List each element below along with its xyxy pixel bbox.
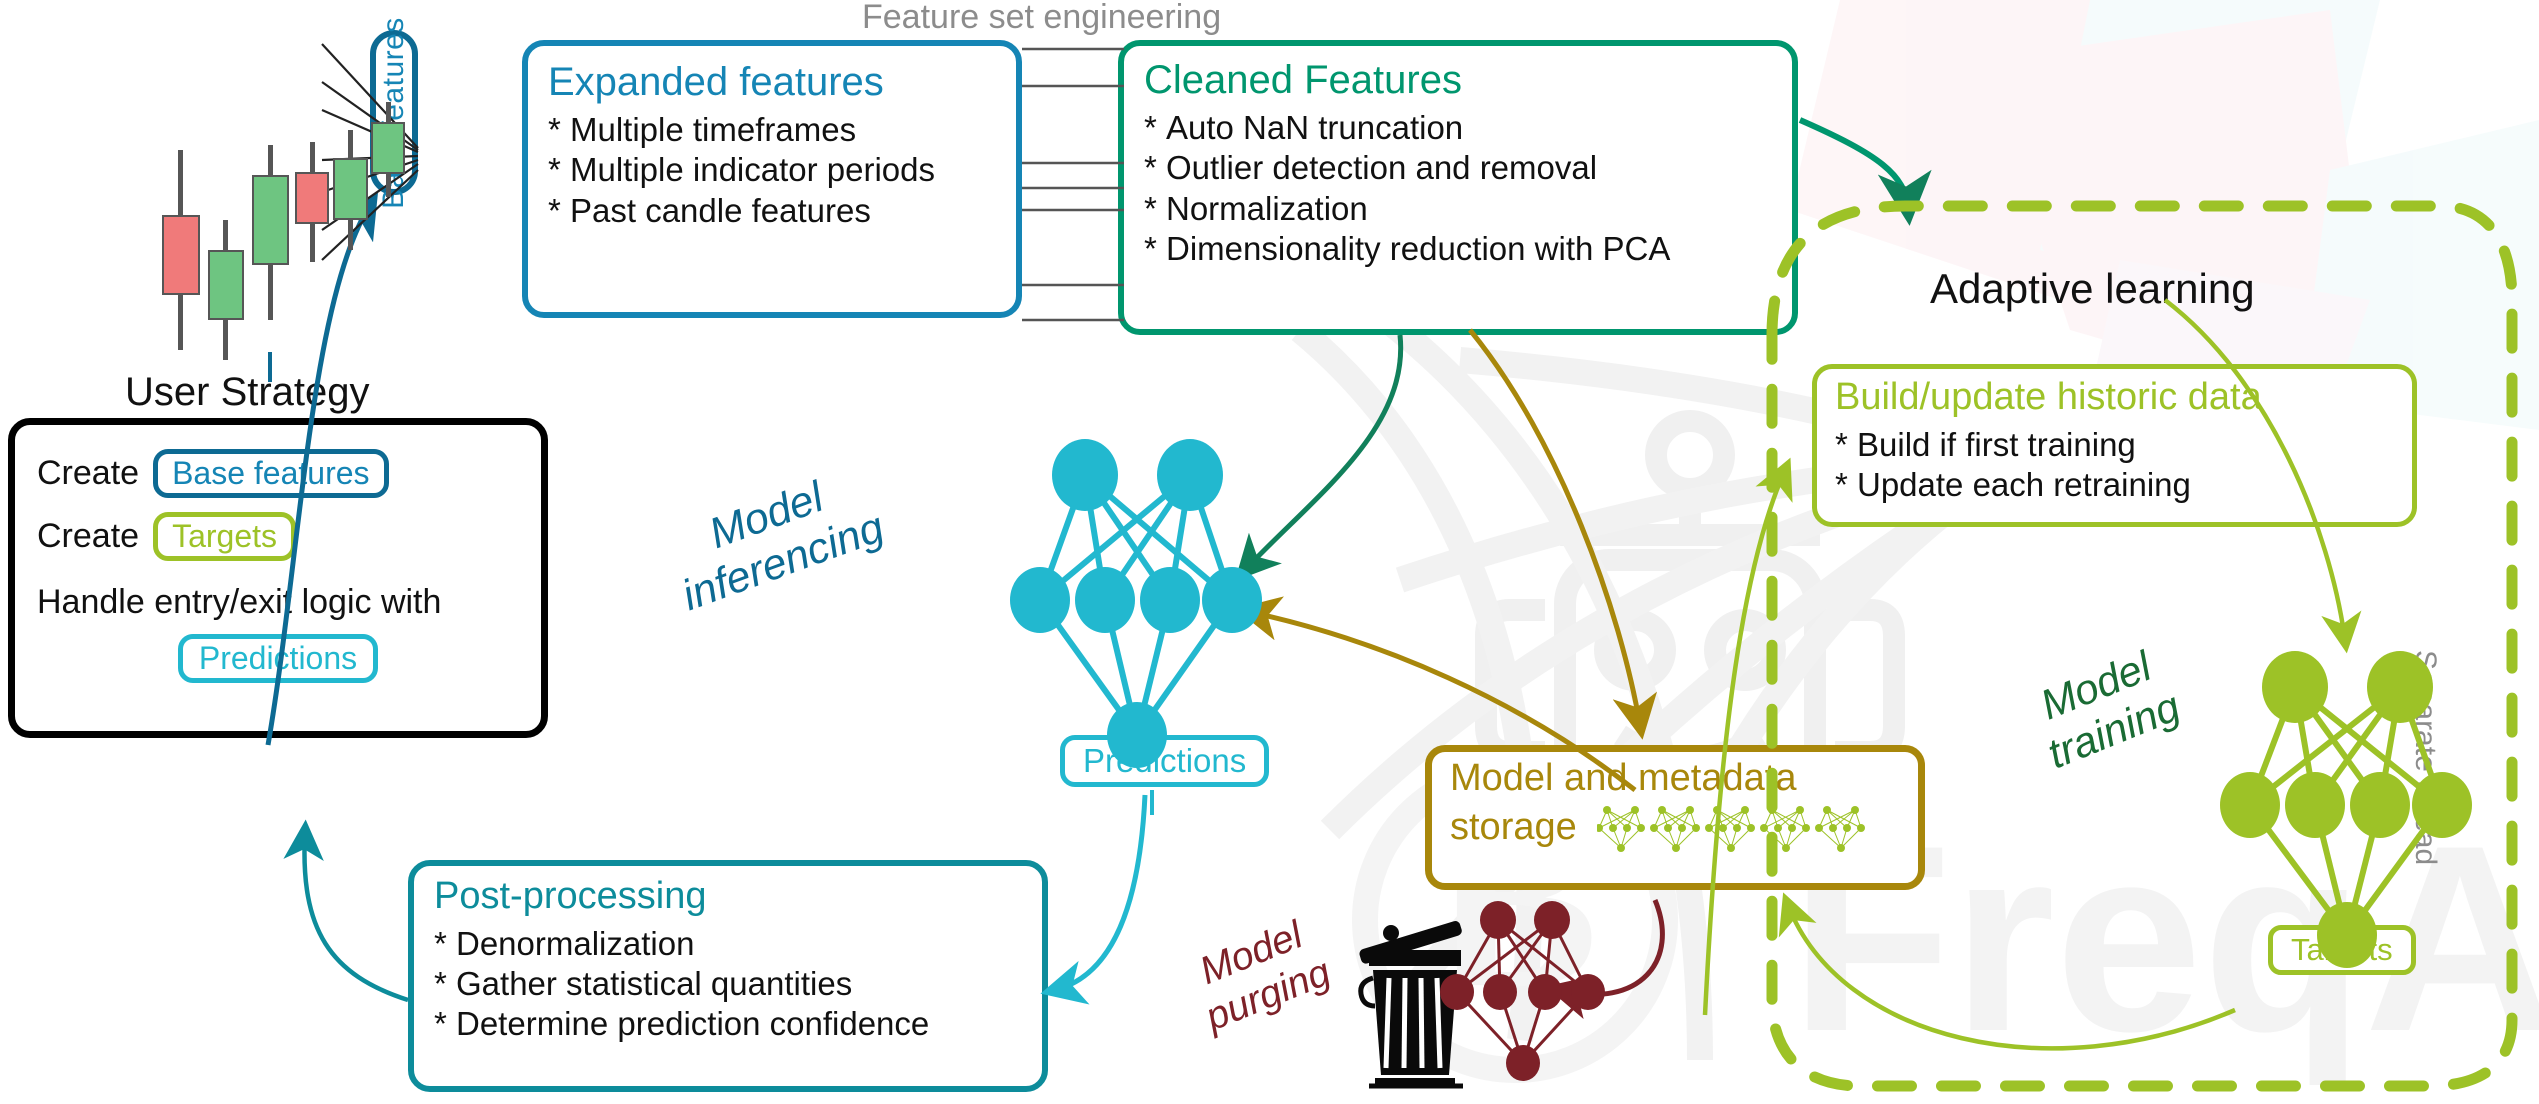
create-label-1: Create	[37, 454, 139, 493]
candlestick-chart-icon	[150, 90, 380, 320]
cleaned-features-list: *Auto NaN truncation *Outlier detection …	[1144, 108, 1772, 269]
diagram-canvas: B FreqAI	[0, 0, 2539, 1104]
post-processing-title: Post-processing	[434, 876, 1022, 918]
box-user-strategy[interactable]: Create Base features Create Targets Hand…	[8, 418, 548, 738]
user-strategy-row-predictions: Predictions	[37, 634, 519, 683]
list-item: *Normalization	[1144, 189, 1772, 229]
pill-base-features-label: Base features	[377, 17, 411, 209]
create-label-2: Create	[37, 517, 139, 556]
expanded-features-title: Expanded features	[548, 60, 996, 104]
build-update-list: *Build if first training *Update each re…	[1835, 425, 2394, 506]
pill-targets[interactable]: Targets	[153, 512, 296, 561]
box-model-metadata-storage[interactable]: Model and metadata storage	[1425, 745, 1925, 890]
neural-network-strip-icon	[1597, 800, 1887, 856]
list-item: *Determine prediction confidence	[434, 1004, 1022, 1044]
post-processing-list: *Denormalization *Gather statistical qua…	[434, 924, 1022, 1045]
user-strategy-row-base-features: Create Base features	[37, 449, 519, 498]
box-cleaned-features[interactable]: Cleaned Features *Auto NaN truncation *O…	[1118, 40, 1798, 335]
box-build-update-historic-data[interactable]: Build/update historic data *Build if fir…	[1812, 364, 2417, 527]
list-item: *Auto NaN truncation	[1144, 108, 1772, 148]
list-item: *Past candle features	[548, 191, 996, 231]
feature-set-engineering-title: Feature set engineering	[862, 0, 1221, 37]
list-item: *Gather statistical quantities	[434, 964, 1022, 1004]
model-storage-line1: Model and metadata	[1450, 758, 1900, 800]
user-strategy-row-entry-exit: Handle entry/exit logic with	[37, 583, 519, 622]
user-strategy-row-targets: Create Targets	[37, 512, 519, 561]
list-item: *Build if first training	[1835, 425, 2394, 465]
list-item: *Denormalization	[434, 924, 1022, 964]
list-item: *Outlier detection and removal	[1144, 148, 1772, 188]
neural-network-cyan-icon	[1000, 430, 1280, 790]
neural-network-green-icon	[2210, 645, 2490, 975]
model-storage-line2: storage	[1450, 806, 1577, 849]
box-post-processing[interactable]: Post-processing *Denormalization *Gather…	[408, 860, 1048, 1092]
box-expanded-features[interactable]: Expanded features *Multiple timeframes *…	[522, 40, 1022, 318]
cleaned-features-title: Cleaned Features	[1144, 58, 1772, 102]
user-strategy-title: User Strategy	[125, 370, 370, 415]
pill-predictions-strategy[interactable]: Predictions	[178, 634, 378, 683]
expanded-features-list: *Multiple timeframes *Multiple indicator…	[548, 110, 996, 231]
build-update-title: Build/update historic data	[1835, 377, 2394, 419]
adaptive-learning-title: Adaptive learning	[1930, 265, 2255, 313]
list-item: *Update each retraining	[1835, 465, 2394, 505]
list-item: *Dimensionality reduction with PCA	[1144, 229, 1772, 269]
neural-network-red-icon	[1440, 895, 1640, 1085]
pill-base-features[interactable]: Base features	[153, 449, 388, 498]
list-item: *Multiple timeframes	[548, 110, 996, 150]
list-item: *Multiple indicator periods	[548, 150, 996, 190]
